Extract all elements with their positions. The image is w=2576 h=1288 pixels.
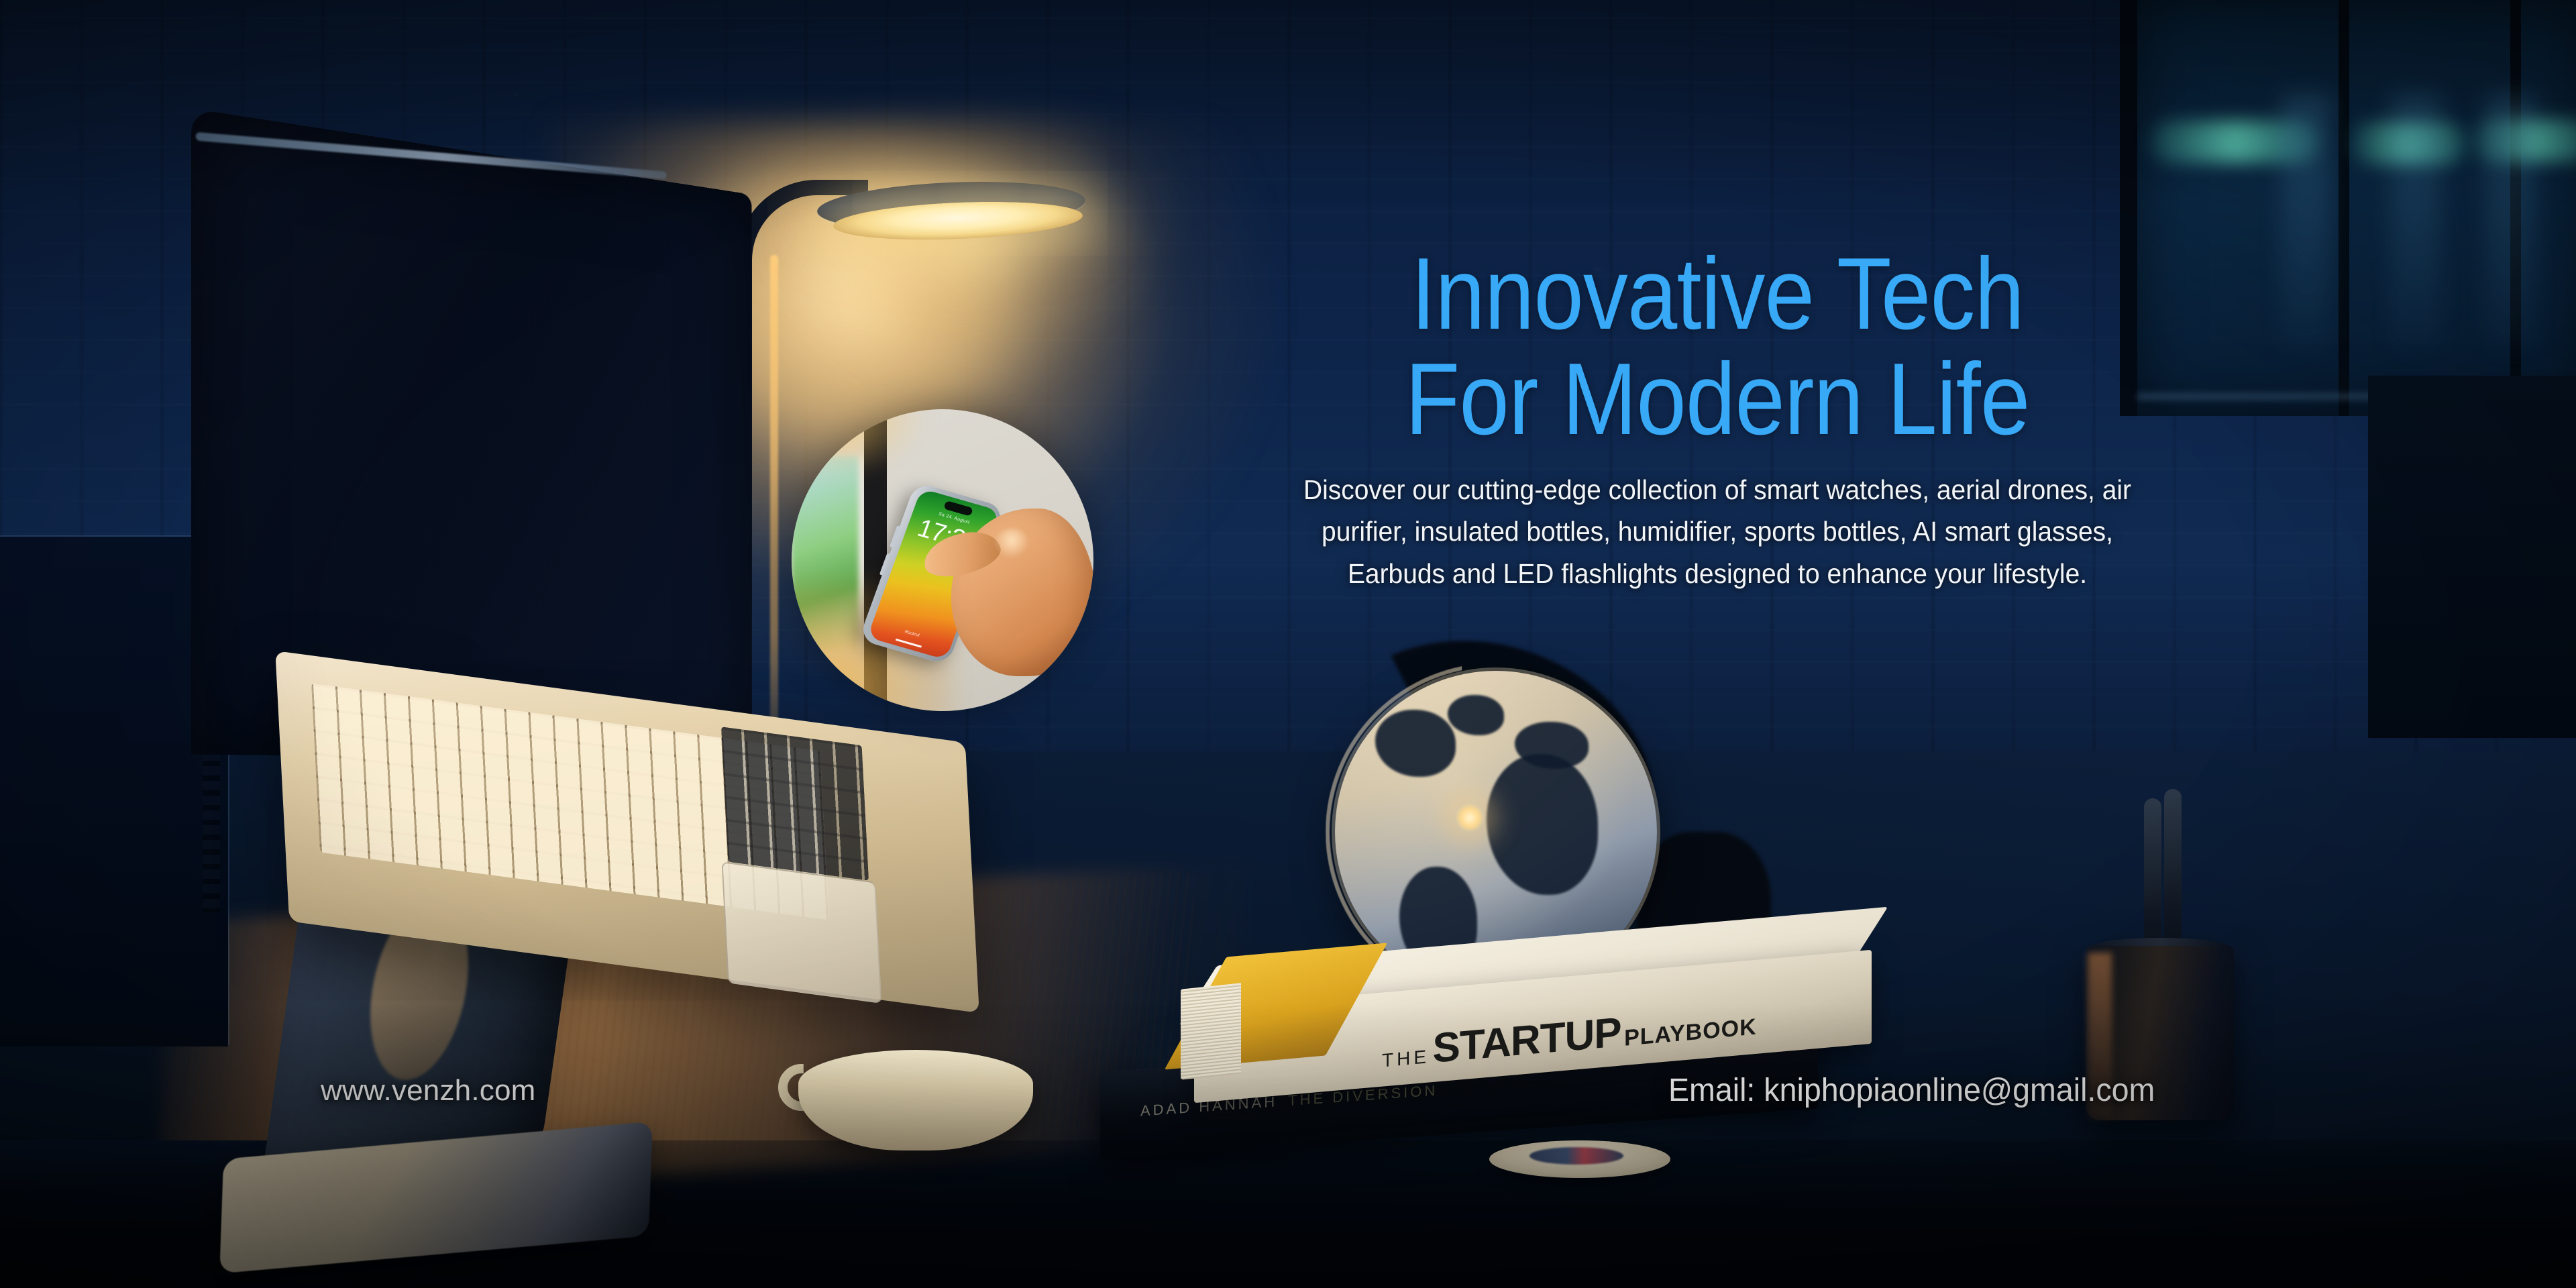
- inset-warm-light-top: [792, 409, 932, 483]
- circular-inset-photo: Sa 24. August 17:31 18° Wetter Rückruf: [792, 409, 1093, 711]
- coaster-artwork: [1529, 1147, 1623, 1165]
- hero-text-block: Innovative Tech For Modern Life Discover…: [1154, 241, 2281, 594]
- book-top-pages: [1181, 983, 1241, 1079]
- window-glow-column-2: [2391, 94, 2440, 349]
- headline-line-2: For Modern Life: [1222, 347, 2213, 452]
- hero-description: Discover our cutting-edge collection of …: [1297, 469, 2138, 594]
- book-top-subtitle: PLAYBOOK: [1624, 1014, 1757, 1051]
- laptop-keyboard-right-keys: [721, 727, 869, 881]
- page-title: Innovative Tech For Modern Life: [1222, 241, 2213, 451]
- headline-line-1: Innovative Tech: [1222, 241, 2213, 347]
- knuckle-highlight: [994, 529, 1029, 558]
- globe-landmass-africa: [1487, 754, 1598, 895]
- website-url[interactable]: www.venzh.com: [321, 1074, 535, 1108]
- window-glow-column-3: [2486, 94, 2536, 349]
- laptop-trackpad: [721, 861, 881, 1004]
- window-mullion-left: [2339, 0, 2349, 416]
- window-glow-column-1: [2281, 94, 2330, 349]
- right-dark-wall: [2368, 376, 2576, 738]
- book-top-the: THE: [1382, 1046, 1430, 1071]
- coffee-mug: [798, 1050, 1033, 1150]
- promo-banner: ADAD HANNAHTHE DIVERSION THE STARTUP PLA…: [0, 0, 2576, 1288]
- phone-home-indicator: [896, 639, 922, 648]
- contact-email[interactable]: Email: kniphopiaonline@gmail.com: [1668, 1072, 2155, 1109]
